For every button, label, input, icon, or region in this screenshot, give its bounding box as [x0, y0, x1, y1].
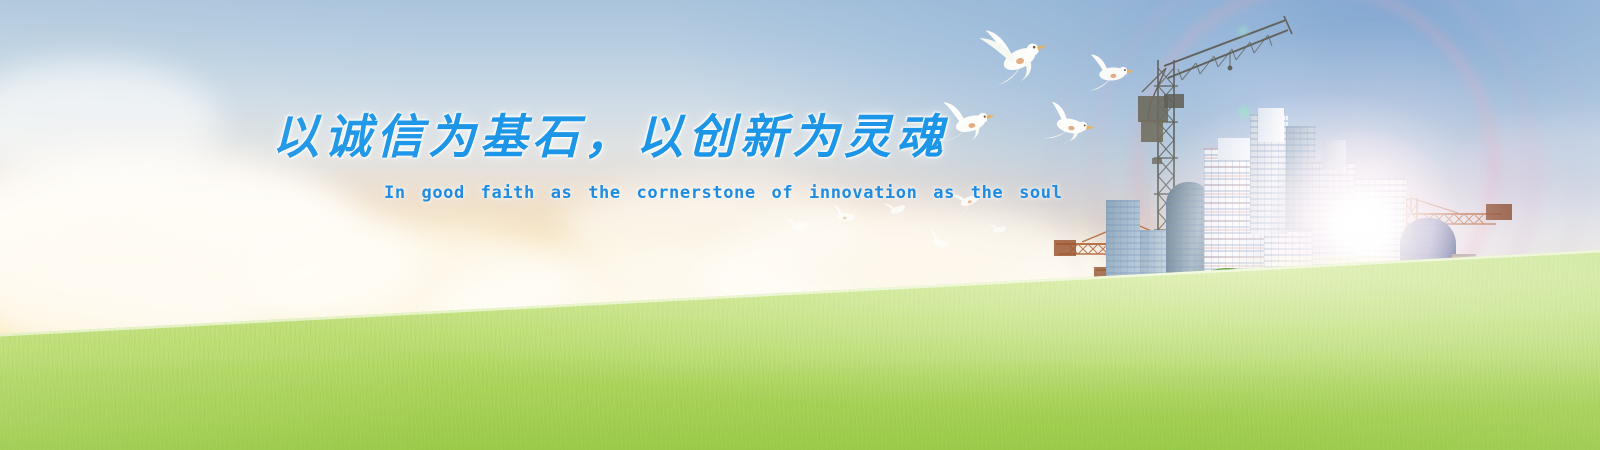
- grass-foreground-shade: [0, 358, 1600, 450]
- headline-block: 以诚信为基石，以创新为灵魂 In good faith as the corne…: [272, 98, 992, 203]
- skyscraper-crown: [1258, 108, 1284, 142]
- lens-flare-orb: [1236, 24, 1250, 38]
- skyscraper-crown: [1218, 138, 1252, 160]
- distant-dove-icon: [987, 221, 1010, 237]
- page-subtitle: In good faith as the cornerstone of inno…: [384, 183, 992, 203]
- hero-banner: 以诚信为基石，以创新为灵魂 In good faith as the corne…: [0, 0, 1600, 450]
- dove-icon: [1085, 48, 1140, 94]
- lens-flare-orb: [1236, 104, 1252, 120]
- distant-dove-icon: [829, 204, 861, 228]
- page-title: 以诚信为基石，以创新为灵魂: [272, 98, 992, 167]
- dove-icon: [1041, 97, 1101, 147]
